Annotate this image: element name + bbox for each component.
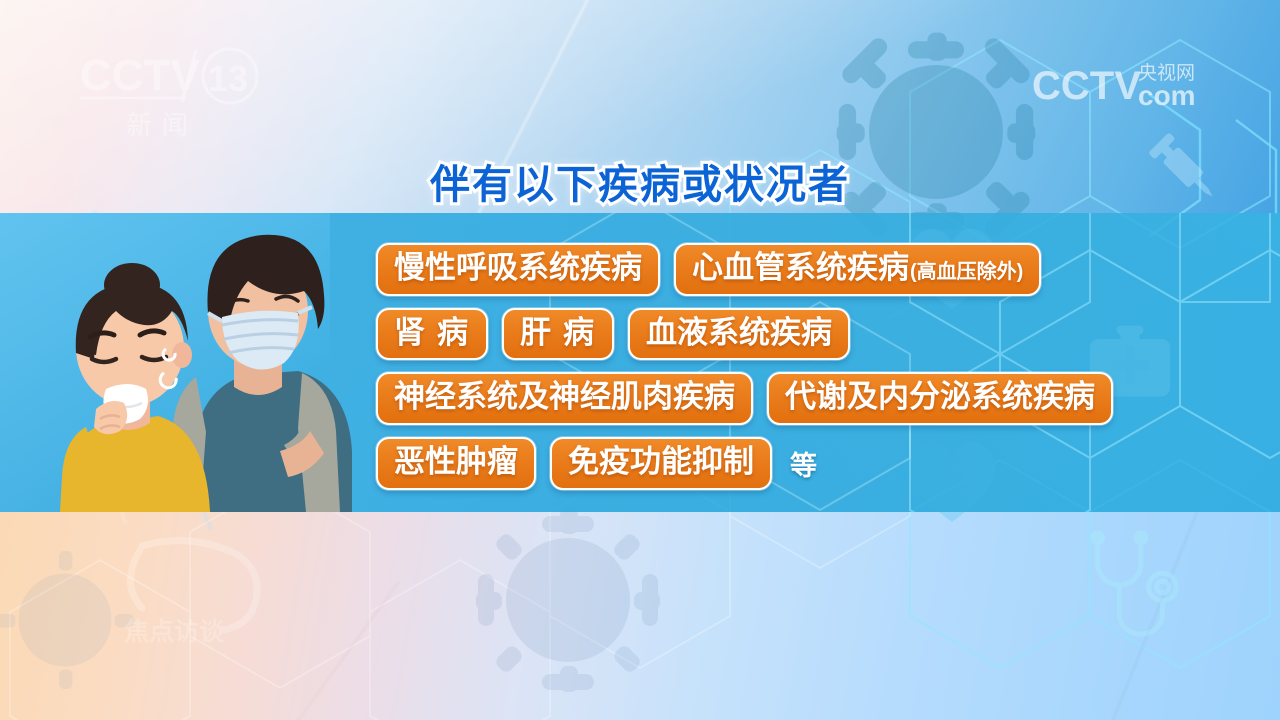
disease-tag[interactable]: 肾病 — [376, 308, 488, 361]
disease-tag[interactable]: 慢性呼吸系统疾病 — [376, 243, 660, 296]
cctv-com-tld: com — [1138, 80, 1196, 110]
disease-tag[interactable]: 恶性肿瘤 — [376, 437, 536, 490]
disease-tag-label: 恶性肿瘤 — [394, 444, 518, 480]
disease-tag[interactable]: 心血管系统疾病 (高血压除外) — [674, 243, 1041, 296]
tag-row-suffix: 等 — [790, 444, 817, 483]
disease-tag-label: 代谢及内分泌系统疾病 — [785, 379, 1095, 415]
cctv13-logo: CCTV 13 新闻 — [78, 46, 268, 138]
page-title: 伴有以下疾病或状况者 — [0, 152, 1280, 210]
disease-tag-label: 肾病 — [394, 315, 480, 351]
cctv13-wordmark: CCTV — [80, 51, 200, 100]
program-watermark: 焦点访谈 — [100, 536, 290, 648]
cctv-com-logo: CCTV 央视网 com — [1030, 55, 1220, 110]
disease-tag-label: 慢性呼吸系统疾病 — [394, 250, 642, 286]
disease-tag-list: 慢性呼吸系统疾病 心血管系统疾病 (高血压除外) 肾病 肝病 血液系统疾病 神经… — [376, 243, 1186, 502]
program-watermark-label: 焦点访谈 — [124, 617, 225, 646]
tag-row: 慢性呼吸系统疾病 心血管系统疾病 (高血压除外) — [376, 243, 1186, 296]
disease-tag[interactable]: 代谢及内分泌系统疾病 — [767, 372, 1113, 425]
tag-row: 恶性肿瘤 免疫功能抑制 等 — [376, 437, 1186, 490]
disease-tag-label: 心血管系统疾病 — [692, 250, 909, 286]
disease-tag[interactable]: 免疫功能抑制 — [550, 437, 772, 490]
broadcast-graphic-stage: 伴有以下疾病或状况者 慢性呼吸系统疾病 心血管系统疾病 (高血压除外) 肾病 肝… — [0, 0, 1280, 720]
disease-tag[interactable]: 肝病 — [502, 308, 614, 361]
cctv13-sub: 新闻 — [126, 111, 198, 138]
tag-row: 神经系统及神经肌肉疾病 代谢及内分泌系统疾病 — [376, 372, 1186, 425]
illustration-family — [44, 213, 384, 512]
disease-tag-label: 神经系统及神经肌肉疾病 — [394, 379, 735, 415]
disease-tag-label: 免疫功能抑制 — [568, 444, 754, 480]
cctv13-number: 13 — [208, 58, 248, 99]
disease-tag-label: 血液系统疾病 — [646, 315, 832, 351]
tag-row: 肾病 肝病 血液系统疾病 — [376, 308, 1186, 361]
cctv-com-wordmark: CCTV — [1032, 64, 1141, 108]
disease-tag[interactable]: 神经系统及神经肌肉疾病 — [376, 372, 753, 425]
disease-tag-label: 肝病 — [520, 315, 606, 351]
disease-tag[interactable]: 血液系统疾病 — [628, 308, 850, 361]
disease-tag-note: (高血压除外) — [910, 261, 1023, 284]
